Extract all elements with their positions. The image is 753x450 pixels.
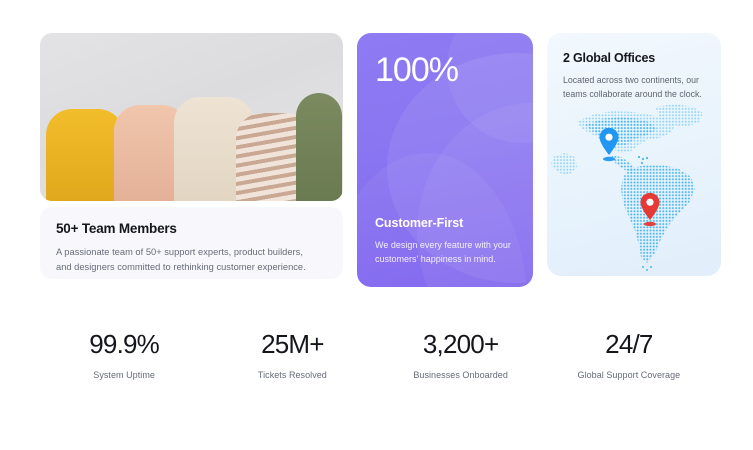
customer-first-card[interactable]: 100% Customer-First We design every feat… (357, 33, 533, 287)
global-offices-description-line-1: Located across two continents, our (563, 75, 699, 85)
team-photo (40, 33, 343, 201)
customer-first-description: We design every feature with your custom… (375, 238, 515, 267)
decorative-swoosh-4 (447, 33, 533, 143)
stat-value: 3,200+ (377, 330, 545, 360)
stat-label: Tickets Resolved (208, 370, 376, 380)
about-stats-section: 50+ Team Members A passionate team of 50… (0, 0, 753, 450)
stat-label: System Uptime (40, 370, 208, 380)
team-card-description-line-1: A passionate team of 50+ support experts… (56, 247, 303, 257)
customer-first-description-line-1: We design every feature with your (375, 240, 511, 250)
team-card-description: A passionate team of 50+ support experts… (56, 245, 327, 275)
global-offices-title: 2 Global Offices (563, 51, 705, 65)
team-card-title: 50+ Team Members (56, 221, 327, 237)
global-offices-card[interactable]: 2 Global Offices Located across two cont… (547, 33, 721, 276)
team-members-card[interactable]: 50+ Team Members A passionate team of 50… (40, 33, 343, 279)
key-stats-row: 99.9% System Uptime 25M+ Tickets Resolve… (40, 330, 713, 380)
customer-first-stat: 100% (375, 53, 515, 87)
team-card-text: 50+ Team Members A passionate team of 50… (40, 207, 343, 279)
stat-label: Businesses Onboarded (377, 370, 545, 380)
stat-value: 24/7 (545, 330, 713, 360)
stat-value: 25M+ (208, 330, 376, 360)
stat-global-support-coverage: 24/7 Global Support Coverage (545, 330, 713, 380)
customer-first-description-line-2: customers' happiness in mind. (375, 254, 496, 264)
map-south-america (621, 165, 695, 263)
stat-businesses-onboarded: 3,200+ Businesses Onboarded (377, 330, 545, 380)
stat-label: Global Support Coverage (545, 370, 713, 380)
feature-cards-row: 50+ Team Members A passionate team of 50… (40, 33, 713, 288)
customer-first-title: Customer-First (375, 216, 515, 230)
stat-value: 99.9% (40, 330, 208, 360)
map-west-islands (551, 153, 577, 175)
stat-tickets-resolved: 25M+ Tickets Resolved (208, 330, 376, 380)
team-card-description-line-2: and designers committed to rethinking cu… (56, 262, 306, 272)
stat-system-uptime: 99.9% System Uptime (40, 330, 208, 380)
customer-first-text: Customer-First We design every feature w… (375, 216, 515, 267)
dotted-world-map (547, 95, 721, 276)
